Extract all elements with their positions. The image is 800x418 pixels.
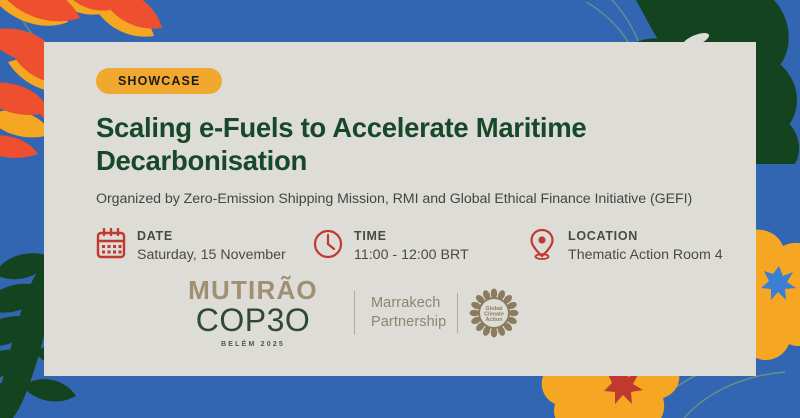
marrakech-seal-divider <box>457 293 458 333</box>
showcase-badge: SHOWCASE <box>96 68 222 94</box>
clock-icon <box>313 228 343 260</box>
marrakech-partnership-logo: Marrakech Partnership <box>371 294 446 332</box>
meta-value-location: Thematic Action Room 4 <box>568 247 723 265</box>
meta-item-date: DATE Saturday, 15 November <box>96 228 313 265</box>
event-meta-row: DATE Saturday, 15 November TIME 11:00 - … <box>96 228 756 265</box>
meta-item-location: LOCATION Thematic Action Room 4 <box>527 228 756 265</box>
logo-row: MUTIRÃO COP3O BELÉM 2025 Marrakech Partn… <box>162 277 519 348</box>
event-card: SHOWCASE Scaling e-Fuels to Accelerate M… <box>44 42 756 376</box>
organizers-text: Organized by Zero-Emission Shipping Miss… <box>96 191 756 207</box>
calendar-icon <box>96 228 126 260</box>
meta-value-date: Saturday, 15 November <box>137 247 286 265</box>
page-title: Scaling e-Fuels to Accelerate Maritime D… <box>96 111 696 178</box>
logo-divider <box>354 291 355 335</box>
marrakech-line-2: Partnership <box>371 313 446 332</box>
meta-value-time: 11:00 - 12:00 BRT <box>354 247 469 265</box>
belem-2025-label: BELÉM 2025 <box>162 341 344 348</box>
meta-label-location: LOCATION <box>568 229 723 244</box>
seal-line-3: Action <box>486 317 504 323</box>
marrakech-line-1: Marrakech <box>371 294 446 313</box>
meta-label-date: DATE <box>137 229 286 244</box>
mutirao-wordmark: MUTIRÃO <box>162 277 344 303</box>
event-card-banner: SHOWCASE Scaling e-Fuels to Accelerate M… <box>0 0 800 418</box>
meta-label-time: TIME <box>354 229 469 244</box>
global-climate-action-seal-icon: Global Climate Action <box>469 288 519 338</box>
map-pin-icon <box>527 228 557 260</box>
meta-item-time: TIME 11:00 - 12:00 BRT <box>313 228 527 265</box>
cop30-wordmark: COP3O <box>162 304 344 338</box>
cop30-logo: MUTIRÃO COP3O BELÉM 2025 <box>162 277 344 348</box>
